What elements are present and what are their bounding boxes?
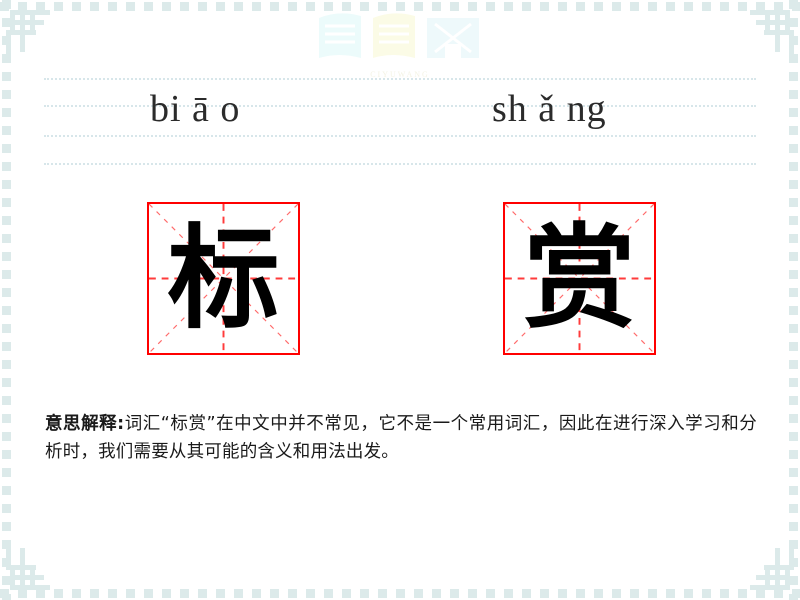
explanation-paragraph: 意思解释:词汇“标赏”在中文中并不常见，它不是一个常用词汇，因此在进行深入学习和…	[45, 410, 757, 466]
character-grid-cell-1: 标	[147, 202, 300, 355]
character-grid-cell-2: 赏	[503, 202, 656, 355]
pinyin-label-2: sh ǎ ng	[492, 83, 607, 135]
pinyin-label-1: bi ā o	[150, 83, 240, 135]
character-glyph-2: 赏	[505, 204, 654, 353]
pinyin-staff: bi ā o sh ǎ ng	[44, 78, 756, 168]
corner-ornament-icon	[4, 4, 56, 56]
frame-border-bottom	[0, 589, 800, 598]
frame-border-left	[2, 0, 11, 600]
staff-line-4	[44, 163, 756, 165]
explanation-label: 意思解释:	[45, 414, 124, 434]
staff-line-3	[44, 135, 756, 137]
staff-line-1	[44, 78, 756, 80]
watermark-books-icon	[315, 8, 485, 64]
explanation-body: 词汇“标赏”在中文中并不常见，它不是一个常用词汇，因此在进行深入学习和分析时，我…	[45, 414, 757, 462]
corner-ornament-icon	[744, 544, 796, 596]
corner-ornament-icon	[744, 4, 796, 56]
site-watermark-logo: CIYUWANG	[315, 8, 485, 74]
worksheet-page: CIYUWANG bi ā o sh ǎ ng 标 赏 意思解释:词汇“标赏”在…	[0, 0, 800, 600]
corner-ornament-icon	[4, 544, 56, 596]
character-glyph-1: 标	[149, 204, 298, 353]
frame-border-right	[789, 0, 798, 600]
frame-border-top	[0, 2, 800, 11]
